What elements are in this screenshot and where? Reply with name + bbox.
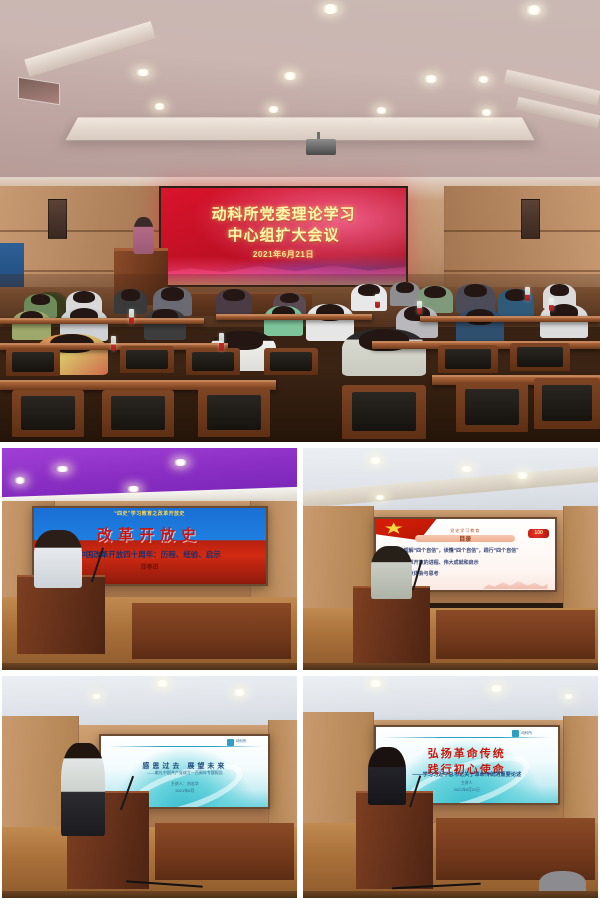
baseboard <box>303 663 598 670</box>
organization-logo: 动科所 <box>227 739 260 745</box>
chair <box>456 382 528 432</box>
audience-member <box>12 311 51 340</box>
photo-lecture-teal-slide: 动科所 感恩过去 展望未来 ——献礼中国共产党成立一百周年专题报告 主讲人：刘志… <box>2 676 297 898</box>
slide-list-item: 二、改革开放的进程、伟大成就和启示 <box>394 559 537 566</box>
ceiling-light <box>368 457 383 464</box>
projector <box>306 139 336 155</box>
chair-back <box>445 349 491 370</box>
chair <box>12 390 84 437</box>
chair <box>534 378 600 428</box>
audience-member-front <box>342 329 426 376</box>
baseboard <box>2 891 297 898</box>
water-bottle <box>129 309 134 324</box>
logo-text: 动科所 <box>521 732 532 736</box>
chair-back <box>465 389 520 425</box>
audience-member <box>306 304 354 341</box>
person-head <box>280 293 300 304</box>
baseboard <box>303 891 598 898</box>
logo-mark-icon <box>512 730 519 737</box>
led-screen-title: 动科所党委理论学习 中心组扩大会议 <box>161 205 406 246</box>
presenter <box>368 747 406 805</box>
ceiling-light <box>480 109 493 116</box>
wall-panel-right <box>563 506 598 613</box>
desk <box>420 316 600 322</box>
anniversary-badge: 100 <box>528 529 549 538</box>
head-table <box>132 603 291 659</box>
person-head <box>121 289 141 301</box>
presenter-at-podium <box>133 217 153 255</box>
presenter <box>371 546 412 599</box>
photo-lecture-party-history-outline: 党史学习教育 100 目录 一、理解“四个自信”，读懂“四个自信”，践行“四个自… <box>303 448 598 670</box>
led-title-line2: 中心组扩大会议 <box>161 226 406 247</box>
collage-row-bottom: 动科所 感恩过去 展望未来 ——献礼中国共产党成立一百周年专题报告 主讲人：刘志… <box>0 676 600 898</box>
ceiling <box>0 0 600 186</box>
chair-back <box>270 352 311 371</box>
water-bottle <box>525 287 530 300</box>
person-head <box>550 284 570 296</box>
photo-plenary-meeting-wide: 动科所党委理论学习 中心组扩大会议 2021年6月21日 <box>0 0 600 442</box>
chair <box>120 346 174 373</box>
chair-back <box>207 395 262 430</box>
presenter <box>61 743 105 836</box>
audience-member <box>144 309 186 339</box>
led-screen: 动科所党委理论学习 中心组扩大会议 2021年6月21日 <box>159 186 408 288</box>
slide-list-item: 一、理解“四个自信”，读懂“四个自信”，践行“四个自信” <box>394 547 537 554</box>
person-head <box>505 289 527 301</box>
water-bottle <box>417 301 422 314</box>
water-bottle <box>375 294 380 307</box>
desk <box>0 318 204 325</box>
person-head <box>424 286 446 298</box>
chair <box>438 345 498 374</box>
audience-member <box>264 306 303 336</box>
podium <box>356 791 433 889</box>
chair-back <box>126 350 167 369</box>
ceiling-light <box>423 75 439 83</box>
logo-text: 动科所 <box>236 740 247 744</box>
slide-subtitle: ——献礼中国共产党成立一百周年专题报告 <box>101 770 268 776</box>
ceiling-light <box>525 5 543 14</box>
desk <box>216 314 372 320</box>
ceiling-light <box>173 459 188 466</box>
ceiling-light <box>232 689 247 696</box>
ceiling-light <box>153 103 166 110</box>
water-bottle <box>219 333 224 351</box>
ceiling-light <box>368 680 383 687</box>
person-head <box>396 282 414 293</box>
baseboard <box>2 663 297 670</box>
led-title-line1: 动科所党委理论学习 <box>161 205 406 226</box>
chair-back <box>352 392 416 431</box>
collage-row-middle: “四史”学习教育之改革开放史 改革开放史 中国改革开放四十周年：历程、经验、启示… <box>0 448 600 670</box>
slide-divider <box>383 737 550 738</box>
wall-speaker-left <box>48 199 67 239</box>
organization-logo: 动科所 <box>512 731 548 737</box>
person-head <box>73 291 95 303</box>
ceiling-light <box>374 495 386 501</box>
photo-lecture-revolutionary-tradition: 动科所 弘扬革命传统 践行初心使命 ——学习习近平总书记关于革命传统的重要论述 … <box>303 676 598 898</box>
logo-mark-icon <box>227 739 234 746</box>
slide-divider <box>108 746 262 747</box>
person-head <box>223 331 263 350</box>
water-bottle <box>549 298 554 311</box>
audience-member <box>390 282 420 306</box>
chair <box>198 388 270 437</box>
chair-back <box>111 396 166 430</box>
chair-back <box>12 352 53 373</box>
audience-member <box>216 289 252 314</box>
ceiling-light <box>14 477 26 484</box>
ceiling-light <box>135 69 151 77</box>
person-head <box>464 284 487 297</box>
photo-collage: 动科所党委理论学习 中心组扩大会议 2021年6月21日 <box>0 0 600 905</box>
chair <box>264 348 318 375</box>
chair-back <box>542 385 592 421</box>
head-table <box>155 823 294 881</box>
person-head <box>31 294 51 305</box>
wall-panel-right <box>268 720 298 835</box>
wall-groove <box>444 270 600 272</box>
ceiling-light <box>489 685 504 692</box>
chair-back <box>21 396 76 430</box>
chair <box>102 390 174 437</box>
audience-seating-area <box>0 274 600 442</box>
ceiling-light <box>282 72 298 80</box>
slide-section-pill: 目录 <box>415 535 515 543</box>
chair-back <box>517 347 563 368</box>
water-bottle <box>111 336 116 351</box>
slide-speaker: 主讲人：刘志华 <box>101 781 268 788</box>
ceiling-soffit <box>66 117 535 140</box>
person-head <box>223 289 245 301</box>
slide-eyebrow: “四史”学习教育之改革开放史 <box>34 510 266 517</box>
chair <box>186 348 240 375</box>
chair <box>6 348 60 377</box>
chair <box>342 385 426 439</box>
photo-lecture-reform-opening-history: “四史”学习教育之改革开放史 改革开放史 中国改革开放四十周年：历程、经验、启示… <box>2 448 297 670</box>
head-table <box>436 610 595 659</box>
chair-back <box>192 352 233 371</box>
person-head <box>161 287 184 300</box>
wall-speaker-right <box>521 199 540 239</box>
led-screen-date: 2021年6月21日 <box>161 249 406 260</box>
presenter <box>34 530 81 588</box>
audience-member <box>456 309 504 343</box>
chair <box>510 343 570 372</box>
audience-member <box>351 284 387 311</box>
